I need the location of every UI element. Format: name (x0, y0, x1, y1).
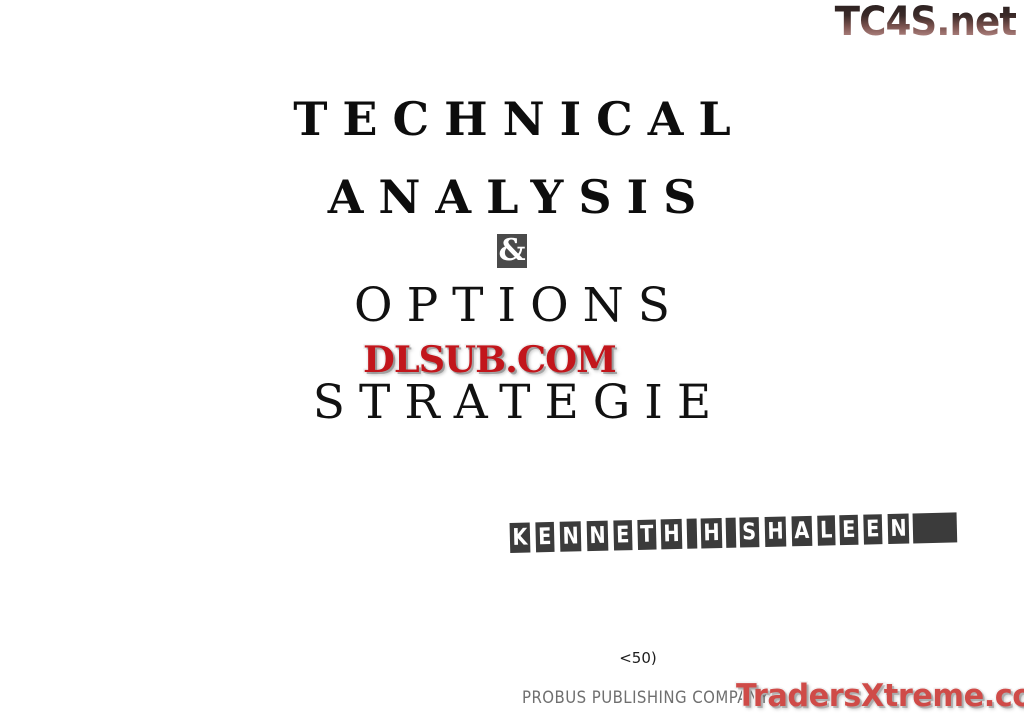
author-tile: E (863, 514, 882, 544)
author-tile: T (637, 520, 656, 550)
dlsub-watermark: DLSUB.COM (363, 341, 616, 379)
author-tile: L (817, 515, 835, 545)
title-line-options: OPTIONS (0, 282, 1024, 329)
ampersand-badge: & (497, 234, 527, 268)
author-tile: E (840, 515, 859, 545)
title-line-technical: TECHNICAL (0, 96, 1024, 142)
author-tile-space (726, 518, 737, 548)
ampersand-container: & (0, 234, 1024, 268)
title-line-analysis: ANALYSIS (0, 174, 1024, 220)
author-tile: H (764, 516, 786, 546)
author-tile: A (791, 516, 812, 546)
author-tile: N (586, 521, 608, 551)
title-line-strategie: STRATEGIE (0, 379, 1024, 426)
author-tile-blank-end (912, 512, 957, 543)
scan-artifact-number: <50) (126, 649, 1024, 667)
author-tile: K (510, 522, 531, 552)
author-tile: N (887, 514, 909, 544)
book-cover-page: TC4S.net TECHNICAL ANALYSIS & OPTIONS ST… (0, 0, 1024, 724)
author-tile: E (613, 520, 632, 550)
author-tile-space (686, 519, 697, 549)
author-name-strip: KENNETHHSHALEEN (508, 512, 958, 553)
tradersxtreme-watermark: TradersXtreme.com (736, 679, 1024, 713)
author-tile: H (700, 518, 722, 548)
author-tile: N (559, 521, 581, 551)
author-tile: E (535, 522, 554, 552)
tc4s-site-watermark: TC4S.net (834, 2, 1016, 42)
publisher-name: PROBUS PUBLISHING COMPANY (522, 688, 769, 708)
author-tile: S (739, 517, 759, 547)
author-tile: H (661, 519, 683, 549)
